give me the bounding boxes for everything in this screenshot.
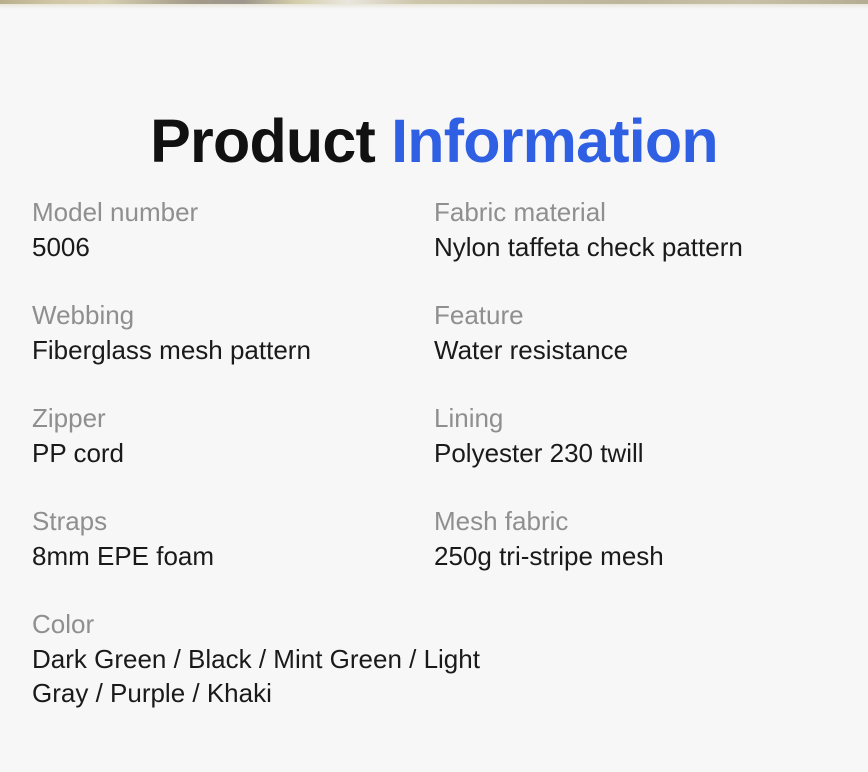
spec-value: 5006 [32, 231, 422, 264]
page-title-primary: Product [150, 107, 391, 175]
spec-label: Model number [32, 196, 422, 229]
spec-label: Straps [32, 505, 422, 538]
spec-value: Dark Green / Black / Mint Green / Light … [32, 643, 502, 711]
spec-item-webbing: Webbing Fiberglass mesh pattern [32, 299, 434, 368]
spec-value: Nylon taffeta check pattern [434, 231, 824, 264]
page-title-accent: Information [391, 107, 718, 175]
spec-label: Feature [434, 299, 824, 332]
spec-item-lining: Lining Polyester 230 twill [434, 402, 836, 471]
spec-row: Model number 5006 Fabric material Nylon … [32, 196, 836, 299]
spec-item-fabric-material: Fabric material Nylon taffeta check patt… [434, 196, 836, 265]
spec-row: Zipper PP cord Lining Polyester 230 twil… [32, 402, 836, 505]
spec-item-straps: Straps 8mm EPE foam [32, 505, 434, 574]
spec-value: Water resistance [434, 334, 824, 367]
spec-label: Webbing [32, 299, 422, 332]
spec-value: PP cord [32, 437, 422, 470]
spec-value: Fiberglass mesh pattern [32, 334, 422, 367]
spec-item-color: Color Dark Green / Black / Mint Green / … [32, 608, 836, 711]
spec-label: Zipper [32, 402, 422, 435]
specs-grid: Model number 5006 Fabric material Nylon … [32, 196, 836, 711]
top-image-edge-fade [0, 4, 868, 9]
page-title: Product Information [0, 109, 868, 173]
spec-row: Color Dark Green / Black / Mint Green / … [32, 608, 836, 711]
spec-value: 250g tri-stripe mesh [434, 540, 824, 573]
spec-item-model-number: Model number 5006 [32, 196, 434, 265]
spec-value: 8mm EPE foam [32, 540, 422, 573]
spec-row: Straps 8mm EPE foam Mesh fabric 250g tri… [32, 505, 836, 608]
spec-label: Color [32, 608, 824, 641]
spec-item-zipper: Zipper PP cord [32, 402, 434, 471]
product-information-page: Product Information Model number 5006 Fa… [0, 0, 868, 772]
spec-row: Webbing Fiberglass mesh pattern Feature … [32, 299, 836, 402]
spec-label: Fabric material [434, 196, 824, 229]
spec-value: Polyester 230 twill [434, 437, 824, 470]
spec-label: Mesh fabric [434, 505, 824, 538]
spec-item-mesh-fabric: Mesh fabric 250g tri-stripe mesh [434, 505, 836, 574]
spec-label: Lining [434, 402, 824, 435]
spec-item-feature: Feature Water resistance [434, 299, 836, 368]
